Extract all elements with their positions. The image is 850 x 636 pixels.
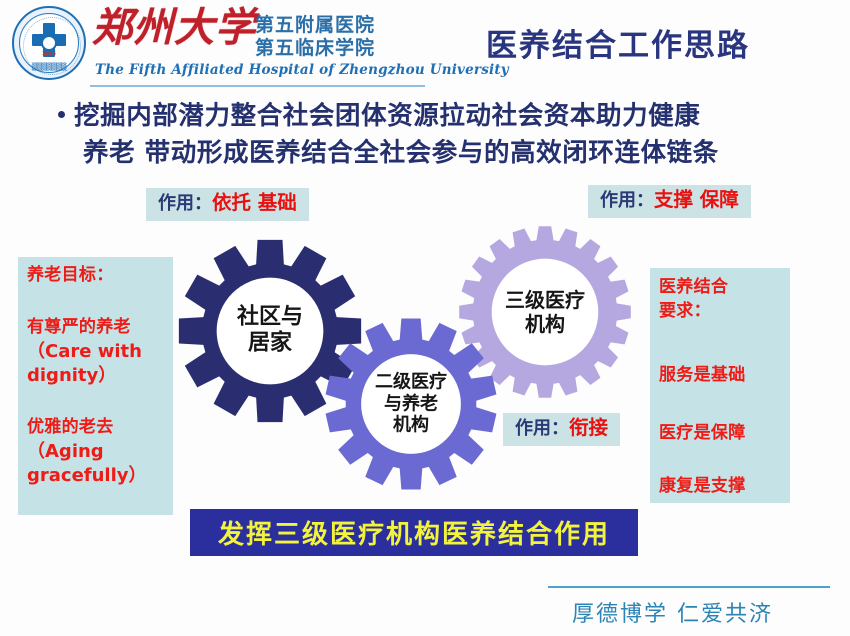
- panel-left-line-6: gracefully）: [27, 465, 147, 487]
- bullet-line-1: 挖掘内部潜力整合社会团体资源拉动社会资本助力健康: [58, 98, 818, 135]
- panel-left-line-2: （Care with: [27, 341, 142, 363]
- panel-left-line-0: 养老目标：: [27, 265, 114, 286]
- bottom-banner-text: 发挥三级医疗机构医养结合作用: [218, 514, 610, 551]
- bullet-line-2: 养老 带动形成医养结合全社会参与的高效闭环连体链条: [58, 135, 818, 172]
- role-label-linkage: 作用：衔接: [503, 413, 620, 446]
- slide-canvas: 1915 ▒▒▒▒▒▒▒ 郑州大学 第五附属医院 第五临床学院 The Fift…: [0, 0, 850, 636]
- gear-secondary-care: 二级医疗 与养老 机构: [325, 318, 497, 490]
- panel-left-line-5: （Aging: [27, 441, 104, 463]
- brand-name-en: The Fifth Affiliated Hospital of Zhengzh…: [95, 62, 509, 78]
- role-label-prefix: 作用：: [158, 193, 212, 214]
- gear-community-label-line-0: 社区与: [237, 305, 303, 331]
- panel-integration-requirements: 医养结合 要求： 服务是基础 医疗是保障 康复是支撑: [650, 268, 790, 503]
- role-label-backing-guarantee: 作用：支撑 保障: [588, 185, 751, 218]
- role-label-support-basis: 作用：依托 基础: [146, 188, 309, 221]
- bullet-block: 挖掘内部潜力整合社会团体资源拉动社会资本助力健康 养老 带动形成医养结合全社会参…: [58, 98, 818, 172]
- role-label-value: 衔接: [569, 416, 608, 439]
- role-label-prefix: 作用：: [600, 190, 654, 211]
- panel-right-line-4: 康复是支撑: [659, 476, 746, 497]
- brand-subtitle-line-1: 第五附属医院: [255, 14, 375, 37]
- brand-subtitle-line-2: 第五临床学院: [255, 37, 375, 60]
- role-label-prefix: 作用：: [515, 418, 569, 439]
- bullet-text-2: 养老 带动形成医养结合全社会参与的高效闭环连体链条: [83, 138, 719, 168]
- bottom-banner: 发挥三级医疗机构医养结合作用: [190, 509, 638, 556]
- footer-motto: 厚德博学 仁爱共济: [572, 596, 773, 628]
- gear-secondary-label-line-0: 二级医疗: [375, 372, 447, 394]
- panel-left-line-4: 优雅的老去: [27, 417, 114, 438]
- logo-wreath-text: ▒▒▒▒▒▒▒: [32, 63, 66, 71]
- role-label-value: 依托 基础: [212, 191, 297, 214]
- gear-tertiary-label-line-1: 机构: [505, 312, 585, 336]
- panel-right-line-0: 医养结合: [659, 277, 728, 298]
- brand-subtitle: 第五附属医院 第五临床学院: [255, 14, 375, 60]
- panel-right-line-3: 医疗是保障: [659, 423, 746, 444]
- gear-tertiary-label: 三级医疗 机构: [505, 288, 585, 336]
- gear-community-label: 社区与 居家: [237, 305, 303, 358]
- gear-secondary-label: 二级医疗 与养老 机构: [375, 372, 447, 437]
- role-label-value: 支撑 保障: [654, 188, 739, 211]
- logo-year: 1915: [42, 51, 56, 57]
- bullet-dot-icon: [58, 111, 65, 118]
- footer-divider: [548, 586, 830, 588]
- logo-center-circle: [41, 35, 57, 51]
- panel-left-line-1: 有尊严的养老: [27, 317, 131, 338]
- header-divider: [90, 85, 425, 87]
- panel-right-line-2: 服务是基础: [659, 365, 746, 386]
- panel-right-line-1: 要求：: [659, 301, 711, 322]
- slide-header: 1915 ▒▒▒▒▒▒▒ 郑州大学 第五附属医院 第五临床学院 The Fift…: [0, 0, 850, 92]
- bullet-text-1: 挖掘内部潜力整合社会团体资源拉动社会资本助力健康: [74, 101, 700, 131]
- hospital-logo-icon: 1915 ▒▒▒▒▒▒▒: [12, 6, 86, 80]
- gear-secondary-label-line-2: 机构: [375, 415, 447, 437]
- panel-left-line-3: dignity）: [27, 365, 116, 387]
- gear-community-label-line-1: 居家: [237, 331, 303, 357]
- page-title: 医养结合工作思路: [486, 20, 750, 65]
- gear-secondary-label-line-1: 与养老: [375, 393, 447, 415]
- gear-tertiary-label-line-0: 三级医疗: [505, 288, 585, 312]
- panel-elderly-care-goals: 养老目标： 有尊严的养老 （Care with dignity） 优雅的老去 （…: [18, 257, 173, 515]
- brand-name-cn: 郑州大学: [92, 8, 256, 48]
